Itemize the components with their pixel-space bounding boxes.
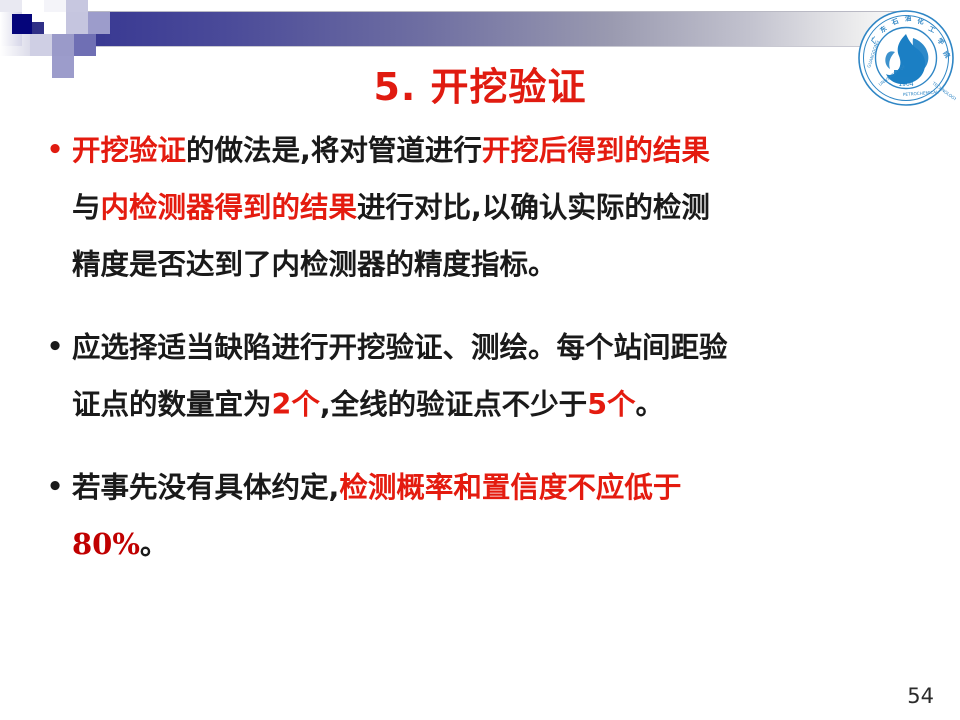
header-square-7 <box>66 12 88 34</box>
bullet-item: • 应选择适当缺陷进行开挖验证、测绘。每个站间距验 证点的数量宜为2个,全线的验… <box>38 319 922 433</box>
bullet-marker: • <box>38 319 72 375</box>
bullet-item: • 开挖验证的做法是,将对管道进行开挖后得到的结果 与内检测器得到的结果进行对比… <box>38 122 922 293</box>
text-run-black: 。 <box>636 388 665 421</box>
header-square-6 <box>44 12 66 34</box>
slide-root: 1904 GUANGDONG UNIVERSITY OF PETROCHEMIC… <box>0 0 960 720</box>
header-gradient-bar <box>30 12 910 46</box>
text-run-black: 证点的数量宜为 <box>72 388 272 421</box>
bullet-line: 若事先没有具体约定,检测概率和置信度不应低于 <box>72 459 922 516</box>
text-run-black: 与 <box>72 191 101 224</box>
text-run-red: 开挖后得到的结果 <box>482 134 710 167</box>
bullet-line: 应选择适当缺陷进行开挖验证、测绘。每个站间距验 <box>72 319 922 376</box>
text-run-red: 开挖验证 <box>72 134 186 167</box>
text-run-black: 进行对比,以确认实际的检测 <box>357 191 710 224</box>
bullet-marker: • <box>38 459 72 515</box>
bullet-line: 开挖验证的做法是,将对管道进行开挖后得到的结果 <box>72 122 922 179</box>
text-run-black: 若事先没有具体约定, <box>72 471 339 504</box>
bullet-line: 与内检测器得到的结果进行对比,以确认实际的检测 <box>72 179 922 236</box>
text-run-red: 检测概率和置信度不应低于 <box>339 471 681 504</box>
header-square-10 <box>52 34 74 56</box>
bullet-line: 精度是否达到了内检测器的精度指标。 <box>72 236 922 293</box>
header-square-8 <box>88 12 110 34</box>
bullet-marker: • <box>38 122 72 178</box>
header-square-9 <box>30 34 52 56</box>
bullet-text: 开挖验证的做法是,将对管道进行开挖后得到的结果 与内检测器得到的结果进行对比,以… <box>72 122 922 293</box>
slide-title: 5. 开挖验证 <box>0 56 960 111</box>
text-run-red: 内检测器得到的结果 <box>101 191 358 224</box>
slide-body: • 开挖验证的做法是,将对管道进行开挖后得到的结果 与内检测器得到的结果进行对比… <box>38 122 922 591</box>
text-run-percent: 80% <box>72 527 140 561</box>
header-square-11 <box>74 34 96 56</box>
header-rule-bottom <box>0 46 900 47</box>
bullet-line: 80%。 <box>72 516 922 573</box>
text-run-black: 的做法是,将对管道进行 <box>186 134 482 167</box>
bullet-line: 证点的数量宜为2个,全线的验证点不少于5个。 <box>72 376 922 433</box>
text-run-black: 应选择适当缺陷进行开挖验证、测绘。每个站间距验 <box>72 331 728 364</box>
bullet-text: 应选择适当缺陷进行开挖验证、测绘。每个站间距验 证点的数量宜为2个,全线的验证点… <box>72 319 922 433</box>
bullet-text: 若事先没有具体约定,检测概率和置信度不应低于 80%。 <box>72 459 922 573</box>
header-square-navy-accent <box>12 14 32 34</box>
page-number: 54 <box>907 684 934 708</box>
text-run-black: 。 <box>140 528 169 561</box>
text-run-red: 2个 <box>272 388 320 421</box>
text-run-black: ,全线的验证点不少于 <box>320 388 587 421</box>
bullet-item: • 若事先没有具体约定,检测概率和置信度不应低于 80%。 <box>38 459 922 573</box>
text-run-black: 精度是否达到了内检测器的精度指标。 <box>72 248 557 281</box>
text-run-red: 5个 <box>587 388 635 421</box>
